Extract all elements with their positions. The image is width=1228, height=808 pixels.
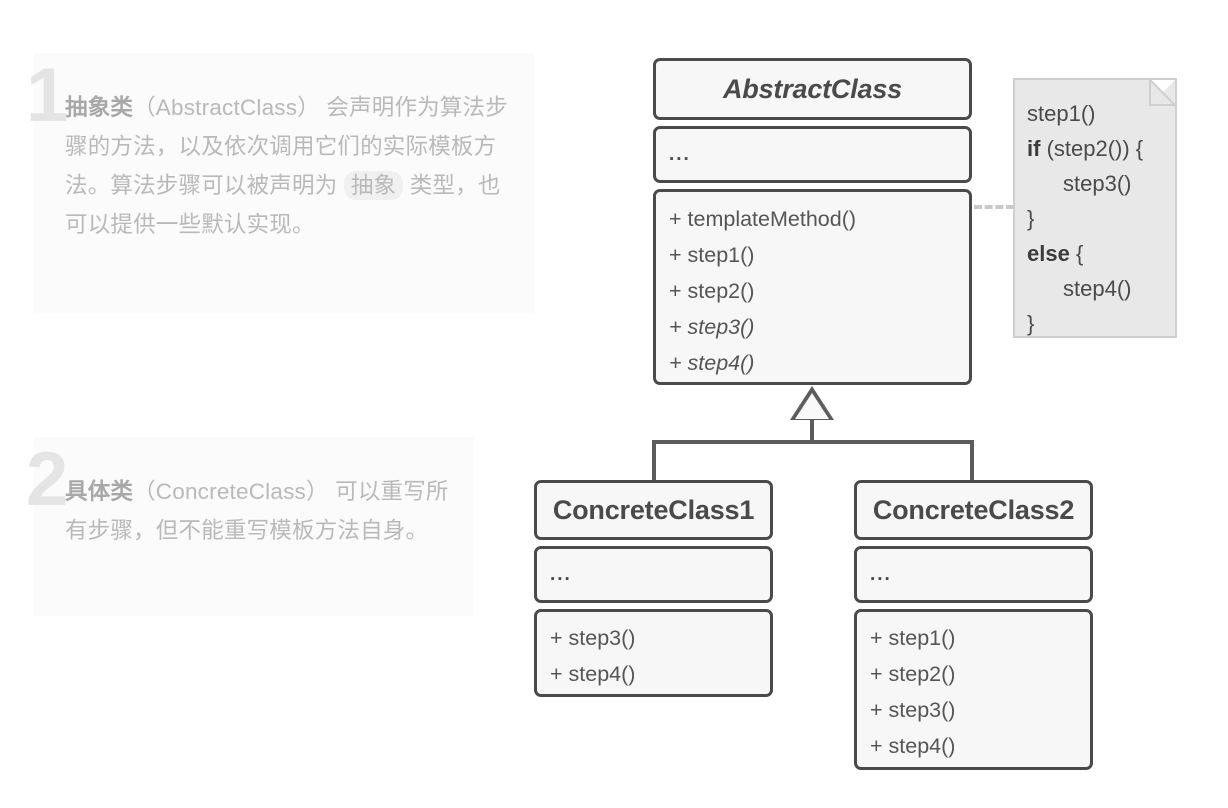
explanation-lead-1: 抽象类 [65,95,133,120]
concrete-class-2-name: ConcreteClass2 [873,495,1074,526]
code-line-3: step3() [1063,171,1131,196]
explanation-paren-1: （AbstractClass） [133,95,320,120]
note-fold-outline-icon [1139,79,1176,116]
concrete-class-2-method-step4: + step4() [857,728,1090,764]
explanation-text-2: 具体类（ConcreteClass） 可以重写所有步骤，但不能重写模板方法自身。 [65,472,465,550]
abstract-class-attribute-row: ... [656,137,969,173]
explanation-paren-2: （ConcreteClass） [133,479,329,504]
code-keyword-else: else [1027,241,1070,266]
code-line-1: step1() [1027,101,1095,126]
explanation-lead-2: 具体类 [65,479,133,504]
code-line-2: (step2()) { [1040,136,1143,161]
concrete-class-1-name: ConcreteClass1 [553,495,754,526]
code-line-4: } [1027,206,1034,231]
abstract-class-name: AbstractClass [723,74,902,105]
concrete-class-1-title-compartment: ConcreteClass1 [534,480,773,540]
concrete-class-2-method-step1: + step1() [857,620,1090,656]
abstract-class-attributes-compartment: ... [653,126,972,183]
concrete-class-1-method-step4: + step4() [537,656,770,692]
inheritance-crossbar [652,440,974,444]
concrete-class-1-attributes-compartment: ... [534,546,773,603]
diagram-canvas: 1 抽象类（AbstractClass） 会声明作为算法步骤的方法，以及依次调用… [0,0,1228,808]
abstract-class-method-templateMethod: + templateMethod() [656,201,969,237]
code-line-6: step4() [1063,276,1131,301]
explanation-number-1: 1 [26,58,66,134]
concrete-class-1-methods-compartment: + step3() + step4() [534,609,773,697]
concrete-class-1-method-step3: + step3() [537,620,770,656]
explanation-text-1: 抽象类（AbstractClass） 会声明作为算法步骤的方法，以及依次调用它们… [65,88,515,244]
abstract-class-method-step2: + step2() [656,273,969,309]
code-note: step1() if (step2()) { step3() } else { … [1013,78,1177,338]
code-keyword-if: if [1027,136,1040,161]
inheritance-branch-left [652,440,656,480]
code-note-body: step1() if (step2()) { step3() } else { … [1027,96,1143,341]
note-dashed-link [974,205,1014,209]
code-line-5: { [1070,241,1083,266]
concrete-class-2-title-compartment: ConcreteClass2 [854,480,1093,540]
abstract-class-method-step3: + step3() [656,309,969,345]
inheritance-triangle-inner [795,393,829,419]
abstract-class-title-compartment: AbstractClass [653,58,972,120]
code-line-7: } [1027,311,1034,336]
abstract-class-method-step4: + step4() [656,345,969,381]
concrete-class-2-method-step3: + step3() [857,692,1090,728]
inheritance-branch-right [970,440,974,480]
explanation-highlight-1: 抽象 [344,171,403,200]
concrete-class-2-methods-compartment: + step1() + step2() + step3() + step4() [854,609,1093,770]
abstract-class-method-step1: + step1() [656,237,969,273]
concrete-class-2-attribute-row: ... [857,557,1090,593]
concrete-class-1-attribute-row: ... [537,557,770,593]
explanation-number-2: 2 [26,442,66,518]
concrete-class-2-method-step2: + step2() [857,656,1090,692]
abstract-class-methods-compartment: + templateMethod() + step1() + step2() +… [653,189,972,385]
concrete-class-2-attributes-compartment: ... [854,546,1093,603]
